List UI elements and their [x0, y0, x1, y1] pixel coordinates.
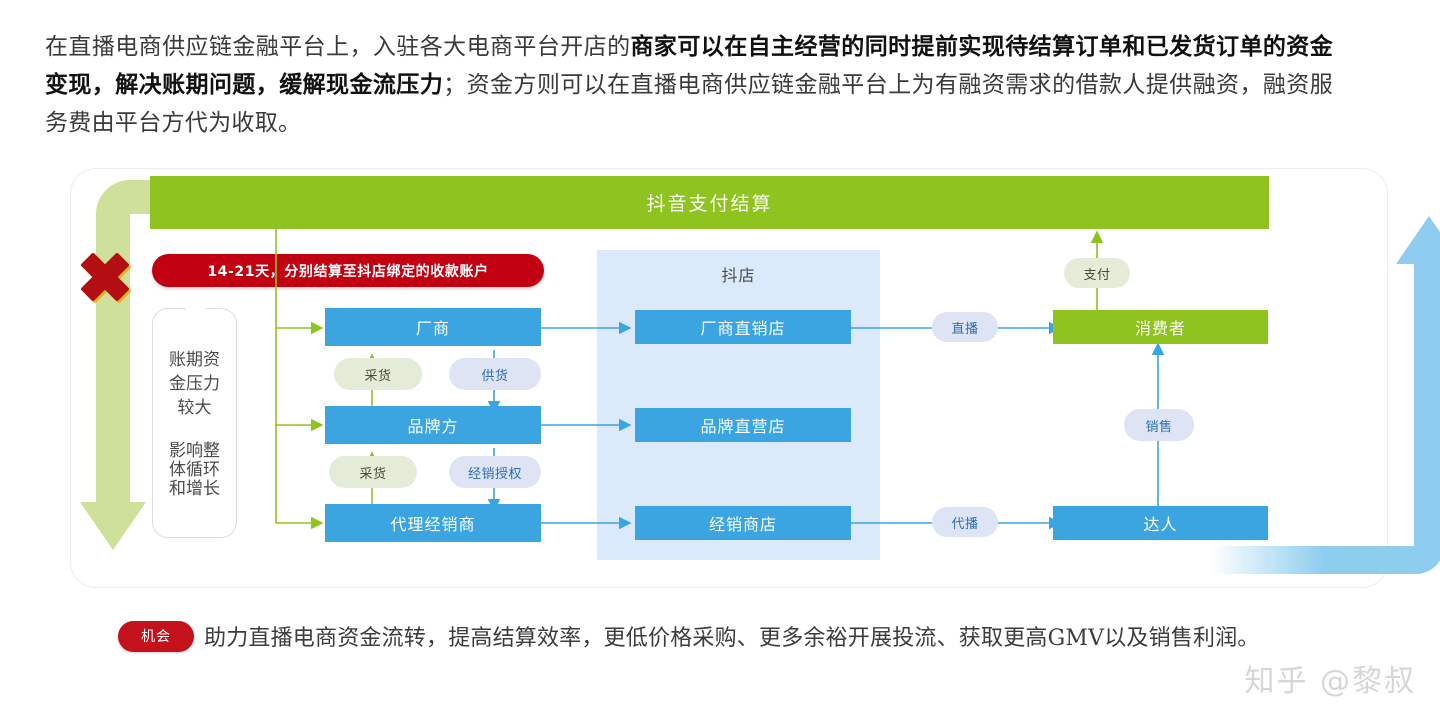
- node-consumer-label: 消费者: [1135, 315, 1186, 339]
- pill-sales-label: 销售: [1145, 416, 1172, 435]
- callout-line-4: 影响整: [164, 442, 226, 461]
- node-brand-store[interactable]: 品牌直营店: [635, 408, 851, 442]
- node-influencer[interactable]: 达人: [1053, 506, 1268, 540]
- settlement-note-label: 14-21天，分别结算至抖店绑定的收款账户: [207, 261, 488, 281]
- node-brand-label: 品牌方: [407, 413, 458, 437]
- pill-livestream-label: 直播: [951, 318, 978, 337]
- doudian-panel-title: 抖店: [597, 262, 880, 286]
- intro-text-part1: 在直播电商供应链金融平台上，入驻各大电商平台开店的: [45, 34, 631, 60]
- callout-block-1: 账期资 金压力 较大: [164, 348, 226, 420]
- node-brand-store-label: 品牌直营店: [700, 413, 785, 437]
- opportunity-caption: 机会 助力直播电商资金流转，提高结算效率，更低价格采购、更多余裕开展投流、获取更…: [118, 620, 1378, 652]
- pill-distribution-authorization: 经销授权: [449, 456, 541, 488]
- supply-chain-diagram: 抖音支付结算 14-21天，分别结算至抖店绑定的收款账户 账期资 金压力 较大 …: [60, 160, 1400, 600]
- node-brand[interactable]: 品牌方: [325, 406, 541, 444]
- node-distributor-label: 代理经销商: [390, 511, 475, 535]
- pill-agency-livestream-label: 代播: [951, 513, 978, 532]
- node-dealer-store[interactable]: 经销商店: [635, 506, 851, 540]
- pill-agency-livestream: 代播: [932, 507, 998, 537]
- pill-procurement-1: 采货: [334, 358, 422, 390]
- callout-line-3: 较大: [164, 396, 226, 420]
- red-cross-icon: [72, 244, 138, 310]
- node-dealer-store-label: 经销商店: [709, 511, 777, 535]
- opportunity-badge: 机会: [118, 621, 194, 652]
- node-consumer[interactable]: 消费者: [1053, 310, 1268, 344]
- pill-livestream: 直播: [932, 312, 998, 342]
- pill-distribution-authorization-label: 经销授权: [468, 463, 522, 482]
- pill-procurement-1-label: 采货: [364, 365, 391, 384]
- pill-procurement-2-label: 采货: [359, 463, 386, 482]
- callout-line-2: 金压力: [164, 372, 226, 396]
- node-distributor[interactable]: 代理经销商: [325, 504, 541, 542]
- pill-payment: 支付: [1064, 258, 1130, 288]
- opportunity-badge-label: 机会: [141, 626, 171, 646]
- callout-line-6: 和增长: [164, 480, 226, 499]
- watermark: 知乎 @黎叔: [1244, 656, 1416, 700]
- node-manufacturer-label: 厂商: [416, 315, 450, 339]
- node-manufacturer[interactable]: 厂商: [325, 308, 541, 346]
- callout-line-1: 账期资: [164, 348, 226, 372]
- node-influencer-label: 达人: [1143, 511, 1177, 535]
- pill-supply: 供货: [449, 358, 541, 390]
- intro-paragraph: 在直播电商供应链金融平台上，入驻各大电商平台开店的商家可以在自主经营的同时提前实…: [45, 28, 1333, 142]
- settlement-note-badge: 14-21天，分别结算至抖店绑定的收款账户: [152, 254, 544, 287]
- pain-point-callout: 账期资 金压力 较大 影响整 体循环 和增长: [152, 308, 237, 538]
- payment-settlement-bar: 抖音支付结算: [150, 176, 1269, 229]
- pill-supply-label: 供货: [481, 365, 508, 384]
- pill-payment-label: 支付: [1083, 264, 1110, 283]
- pill-procurement-2: 采货: [329, 456, 417, 488]
- callout-block-2: 影响整 体循环 和增长: [164, 442, 226, 499]
- payment-settlement-label: 抖音支付结算: [646, 189, 772, 216]
- callout-line-5: 体循环: [164, 461, 226, 480]
- opportunity-text: 助力直播电商资金流转，提高结算效率，更低价格采购、更多余裕开展投流、获取更高GM…: [204, 620, 1260, 652]
- node-manufacturer-store-label: 厂商直销店: [700, 315, 785, 339]
- pill-sales: 销售: [1124, 409, 1194, 441]
- node-manufacturer-store[interactable]: 厂商直销店: [635, 310, 851, 344]
